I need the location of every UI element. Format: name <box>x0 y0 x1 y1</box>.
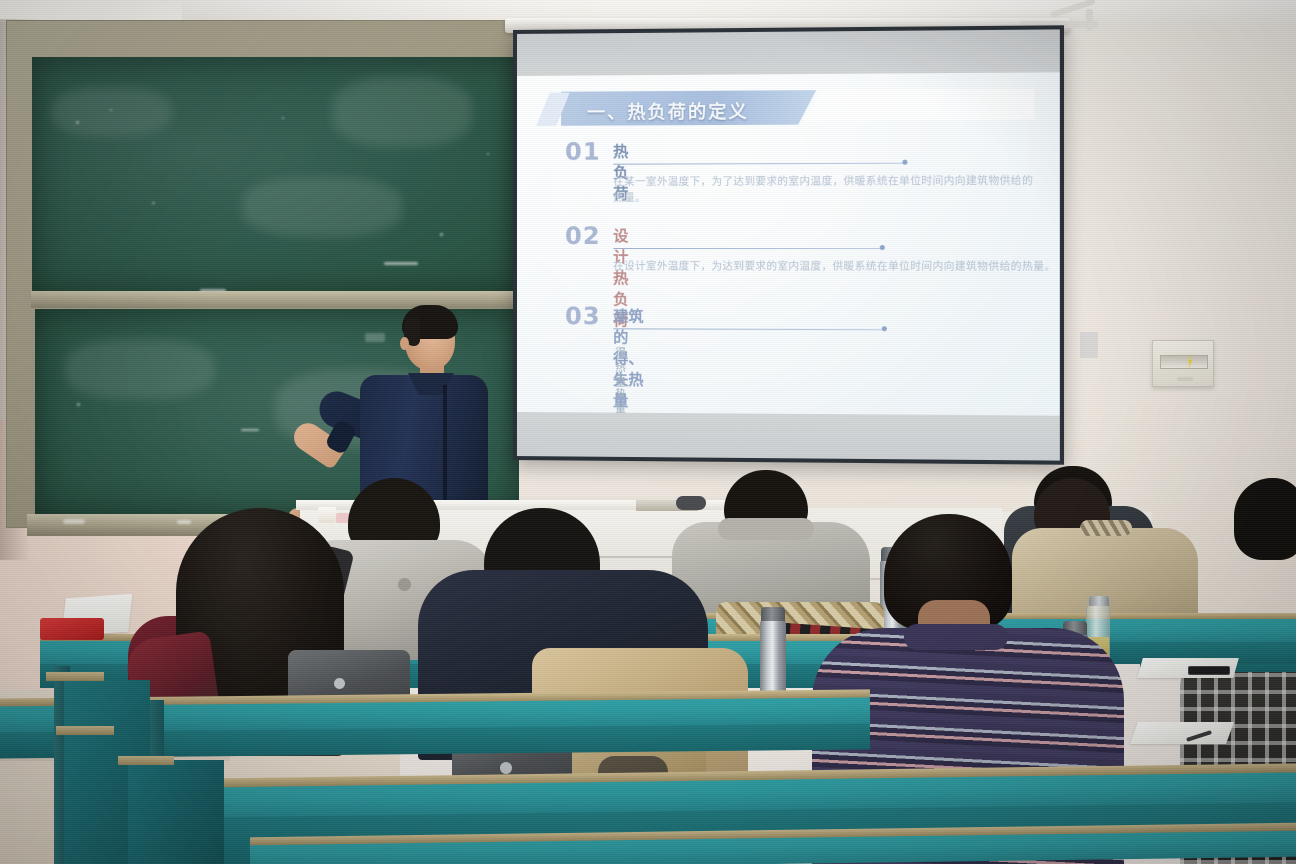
electrical-panel[interactable] <box>1152 340 1214 387</box>
student-button <box>398 578 411 591</box>
slide-item-dot-icon <box>902 160 907 165</box>
student-collar-gray <box>718 518 814 540</box>
slide-item-dot-icon <box>882 326 887 331</box>
slide-item-body: 在设计室外温度下，为达到要求的室内温度，供暖系统在单位时间内向建筑物供给的热量。 <box>613 258 1058 275</box>
projection-screen[interactable]: 一、热负荷的定义 01 热负荷 在某一室外温度下，为了达到要求的室内温度，供暖系… <box>513 25 1064 464</box>
classroom-photo: 一、热负荷的定义 01 热负荷 在某一室外温度下，为了达到要求的室内温度，供暖系… <box>0 0 1296 864</box>
chalkboard-panel-upper <box>32 57 518 293</box>
slide-item-dot-icon <box>880 245 885 250</box>
bag-clasp <box>500 762 512 774</box>
slide-item-number: 03 <box>565 302 601 330</box>
slide-header: 一、热负荷的定义 <box>543 90 816 126</box>
slide-item-number: 02 <box>565 222 601 250</box>
red-folder <box>40 618 104 640</box>
desk-shelf-edge <box>118 756 174 765</box>
phone-on-desk[interactable] <box>1188 666 1230 675</box>
slide-item-rule <box>613 328 884 330</box>
presentation-slide: 一、热负荷的定义 01 热负荷 在某一室外温度下，为了达到要求的室内温度，供暖系… <box>517 72 1060 415</box>
student-scarf <box>1080 520 1132 536</box>
instructor-ear <box>400 337 409 350</box>
slide-item-number: 01 <box>565 138 601 166</box>
desk-shelf-edge <box>56 726 114 735</box>
papers-on-desk <box>1130 722 1234 744</box>
bag-clasp <box>334 678 345 689</box>
desk-side-panel <box>128 760 224 864</box>
thermos-steel <box>760 620 786 698</box>
screen-surface: 一、热负荷的定义 01 热负荷 在某一室外温度下，为了达到要求的室内温度，供暖系… <box>517 29 1060 460</box>
slide-item-rule <box>613 163 904 165</box>
chalk-tray-middle <box>31 291 523 308</box>
student-collar-striped <box>904 624 1008 650</box>
slide-subitem: 失热量 <box>615 371 626 416</box>
slide-item-rule <box>613 248 882 249</box>
slide-header-tail <box>804 89 1035 121</box>
student-head-plaid <box>1234 478 1296 560</box>
panel-latch[interactable] <box>1177 377 1193 381</box>
instructor-shirt-placket <box>443 385 447 513</box>
slide-item-body: 在某一室外温度下，为了达到要求的室内温度，供暖系统在单位时间内向建筑物供给的热量… <box>613 172 1043 206</box>
slide-title: 一、热负荷的定义 <box>587 98 749 125</box>
cup-on-podium <box>318 507 336 523</box>
wall-smudge <box>1080 332 1098 358</box>
desk-shelf-edge <box>46 672 104 681</box>
breaker-row <box>1160 355 1208 369</box>
screen-top-band <box>517 29 1060 76</box>
remote-on-podium[interactable] <box>676 496 706 510</box>
